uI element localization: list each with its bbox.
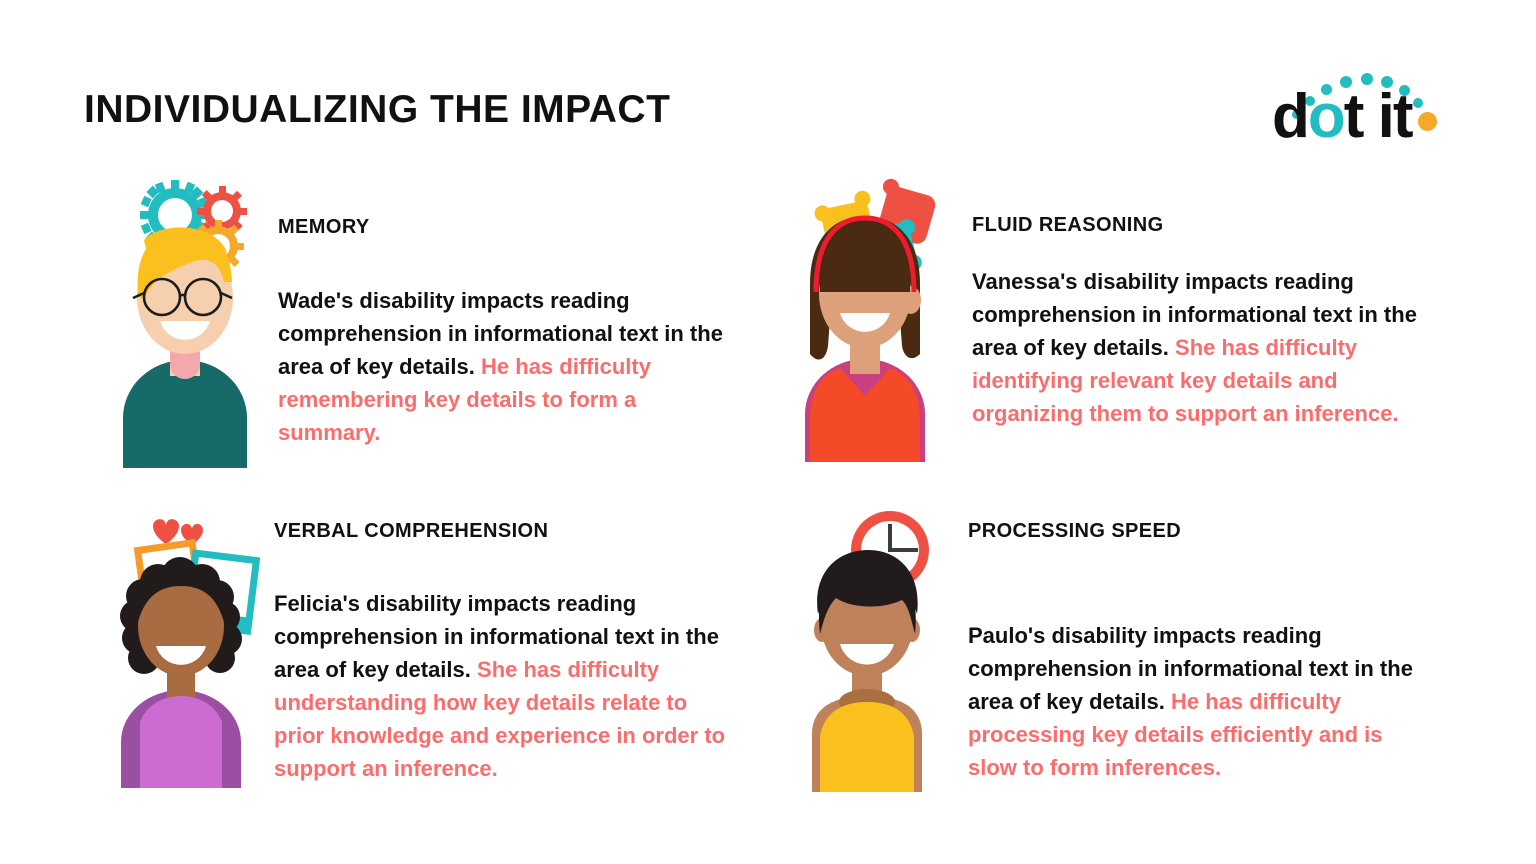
felicia-shirt — [140, 696, 222, 788]
panel-body-processing-speed: Paulo's disability impacts reading compr… — [968, 619, 1430, 784]
logo-arc-dot-8 — [1413, 98, 1423, 108]
logo-wordmark: dot it — [1272, 86, 1412, 148]
panel-verbal-comprehension-text: VERBAL COMPREHENSION Felicia's disabilit… — [266, 498, 756, 785]
panel-fluid-reasoning-text: FLUID REASONING Vanessa's disability imp… — [950, 172, 1450, 430]
panel-verbal-comprehension: VERBAL COMPREHENSION Felicia's disabilit… — [96, 498, 756, 788]
panel-heading-fluid-reasoning: FLUID REASONING — [972, 214, 1450, 237]
logo-letter-o: o — [1308, 82, 1344, 151]
panel-heading-processing-speed: PROCESSING SPEED — [968, 520, 1452, 543]
panel-body-fluid-reasoning: Vanessa's disability impacts reading com… — [972, 265, 1442, 430]
panel-heading-verbal-comprehension: VERBAL COMPREHENSION — [274, 520, 756, 543]
panel-fluid-reasoning: FLUID REASONING Vanessa's disability imp… — [780, 172, 1450, 462]
logo-letters-t-it: t it — [1344, 82, 1412, 151]
dot-it-logo: dot it — [1272, 52, 1452, 148]
logo-letter-d: d — [1272, 82, 1308, 151]
avatar-vanessa — [780, 172, 950, 462]
panel-processing-speed: PROCESSING SPEED Paulo's disability impa… — [782, 502, 1452, 792]
panel-heading-memory: MEMORY — [278, 216, 750, 239]
panel-memory: MEMORY Wade's disability impacts reading… — [100, 178, 750, 468]
page-title: INDIVIDUALIZING THE IMPACT — [84, 88, 670, 132]
logo-accent-dot-icon — [1418, 112, 1437, 131]
panel-body-verbal-comprehension: Felicia's disability impacts reading com… — [274, 587, 742, 785]
panel-body-memory: Wade's disability impacts reading compre… — [278, 284, 728, 449]
panel-processing-speed-text: PROCESSING SPEED Paulo's disability impa… — [952, 502, 1452, 784]
panel-memory-text: MEMORY Wade's disability impacts reading… — [270, 178, 750, 449]
avatar-wade — [100, 178, 270, 468]
avatar-paulo-illustration — [782, 502, 952, 792]
avatar-paulo — [782, 502, 952, 792]
avatar-wade-illustration — [100, 178, 270, 468]
hearts-icon — [153, 519, 203, 545]
avatar-felicia — [96, 498, 266, 788]
avatar-felicia-illustration — [96, 498, 266, 788]
avatar-vanessa-illustration — [780, 172, 950, 462]
slide-canvas: INDIVIDUALIZING THE IMPACT dot it — [0, 0, 1536, 864]
